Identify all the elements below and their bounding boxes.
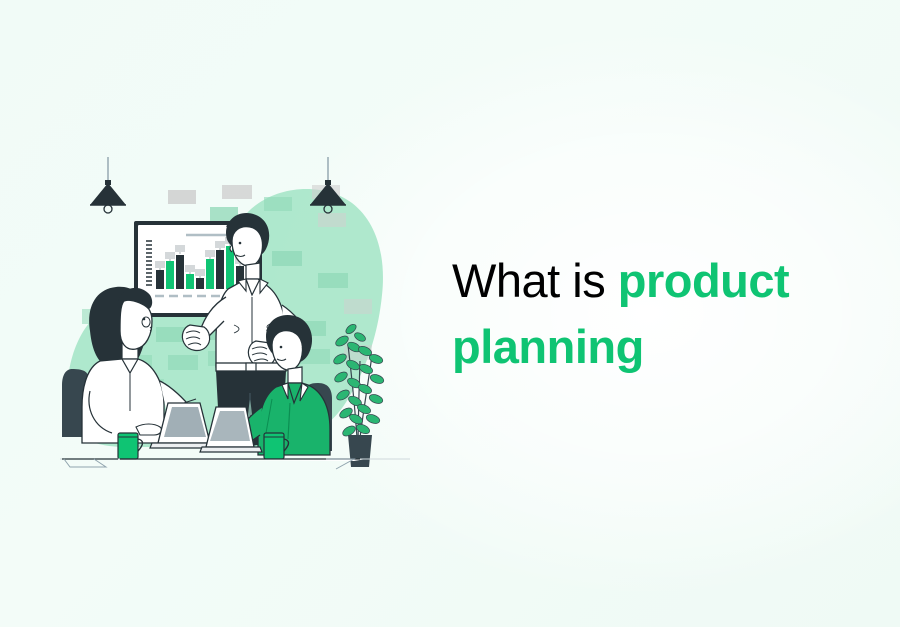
headline-accent-text-planning: planning bbox=[452, 320, 644, 373]
presenter-hand-left bbox=[182, 325, 209, 350]
pendant-lamp-left-icon bbox=[90, 157, 126, 213]
presenter-eye bbox=[239, 242, 242, 245]
plant-pot bbox=[348, 435, 372, 467]
headline-line-1: What is product bbox=[452, 248, 852, 314]
headline-plain-text: What is bbox=[452, 254, 605, 307]
hero-banner: What is product planning bbox=[0, 0, 900, 627]
plant-leaves bbox=[332, 322, 385, 438]
headline-line-2: planning bbox=[452, 314, 852, 380]
headline-accent-text-product: product bbox=[618, 254, 789, 307]
table-edge-left bbox=[64, 459, 106, 467]
meeting-illustration bbox=[60, 155, 410, 475]
man-eye bbox=[280, 346, 283, 349]
woman-eye bbox=[143, 318, 146, 321]
headline-block: What is product planning bbox=[452, 248, 852, 380]
